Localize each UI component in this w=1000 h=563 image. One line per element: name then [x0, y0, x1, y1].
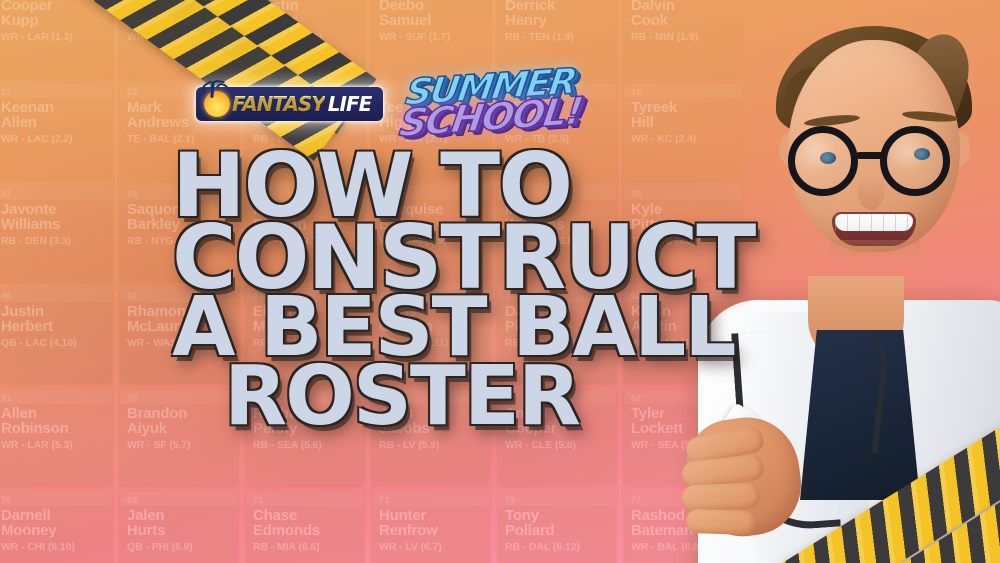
palm-tree-sun-icon — [204, 91, 230, 117]
chin-shadow — [830, 240, 920, 266]
life-text: LIFE — [328, 92, 372, 116]
teeth — [835, 214, 913, 231]
fantasy-text: FANTASY — [232, 92, 325, 116]
branding-row: FANTASY LIFE SUMMER SCHOOL! — [196, 68, 591, 140]
page-title: HOW TO CONSTRUCT A BEST BALL ROSTER — [172, 148, 692, 432]
lens-right — [880, 126, 950, 196]
fantasy-life-wordmark: FANTASY LIFE — [232, 92, 371, 116]
glasses-bridge — [856, 152, 886, 159]
nose — [858, 176, 884, 210]
finger — [686, 509, 757, 535]
summer-school-logo: SUMMER SCHOOL! — [401, 68, 591, 140]
thumbnail-canvas: 13CooperKuppWR - LAR (1.3)14JustinJeffer… — [0, 0, 1000, 563]
finger — [682, 483, 761, 512]
fantasy-life-logo: FANTASY LIFE — [196, 87, 383, 121]
lens-left — [788, 126, 858, 196]
